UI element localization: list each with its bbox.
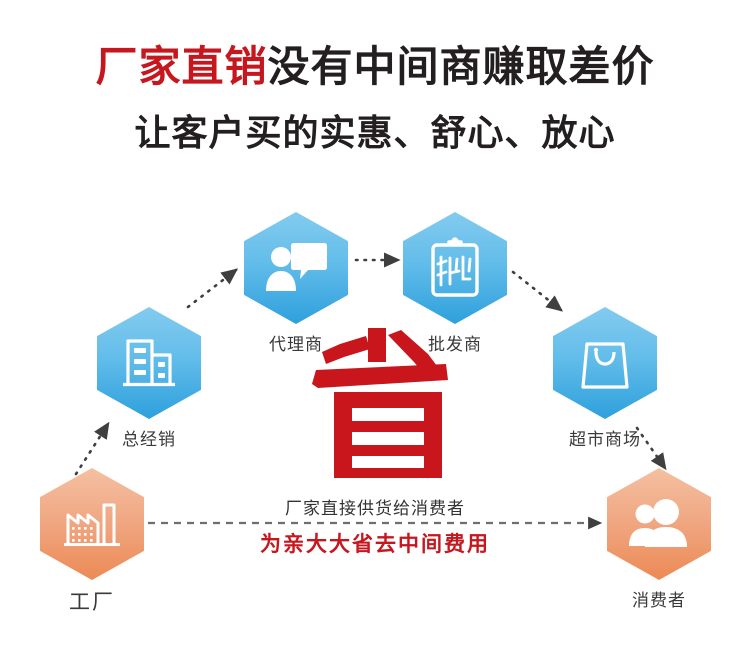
edge-distributor-agent	[188, 270, 236, 307]
node-agent[interactable]: 代理商	[244, 212, 348, 355]
shopping-bag-icon	[578, 335, 632, 391]
edge-wholesaler-supermarket	[513, 272, 561, 310]
hexagon-factory[interactable]	[40, 468, 144, 580]
hexagon-supermarket[interactable]	[553, 307, 657, 419]
hexagon-consumer[interactable]	[607, 468, 711, 580]
page-subtitle: 让客户买的实惠、舒心、放心	[0, 104, 750, 156]
node-label-wholesaler: 批发商	[403, 330, 507, 355]
hexagon-distributor[interactable]	[97, 307, 201, 419]
node-label-consumer: 消费者	[607, 586, 711, 611]
direct-caption-bottom: 为亲大大省去中间费用	[0, 528, 750, 558]
node-supermarket[interactable]: 超市商场	[553, 307, 657, 450]
hexagon-wholesaler[interactable]	[403, 212, 507, 324]
node-label-supermarket: 超市商场	[553, 425, 657, 450]
hexagon-agent[interactable]	[244, 212, 348, 324]
node-wholesaler[interactable]: 批发商	[403, 212, 507, 355]
node-label-distributor: 总经销	[97, 425, 201, 450]
node-label-factory: 工厂	[40, 586, 144, 616]
clipboard-pi-icon	[429, 237, 481, 299]
direct-caption-top: 厂家直接供货给消费者	[0, 494, 750, 519]
node-distributor[interactable]: 总经销	[97, 307, 201, 450]
headline-red-part: 厂家直销	[95, 43, 267, 90]
infographic-canvas: 厂家直销没有中间商赚取差价 让客户买的实惠、舒心、放心	[0, 0, 750, 659]
person-chat-icon	[264, 241, 328, 295]
node-label-agent: 代理商	[244, 330, 348, 355]
headline-dark-part: 没有中间商赚取差价	[268, 43, 655, 90]
page-title: 厂家直销没有中间商赚取差价	[0, 44, 750, 89]
office-building-icon	[120, 335, 178, 391]
